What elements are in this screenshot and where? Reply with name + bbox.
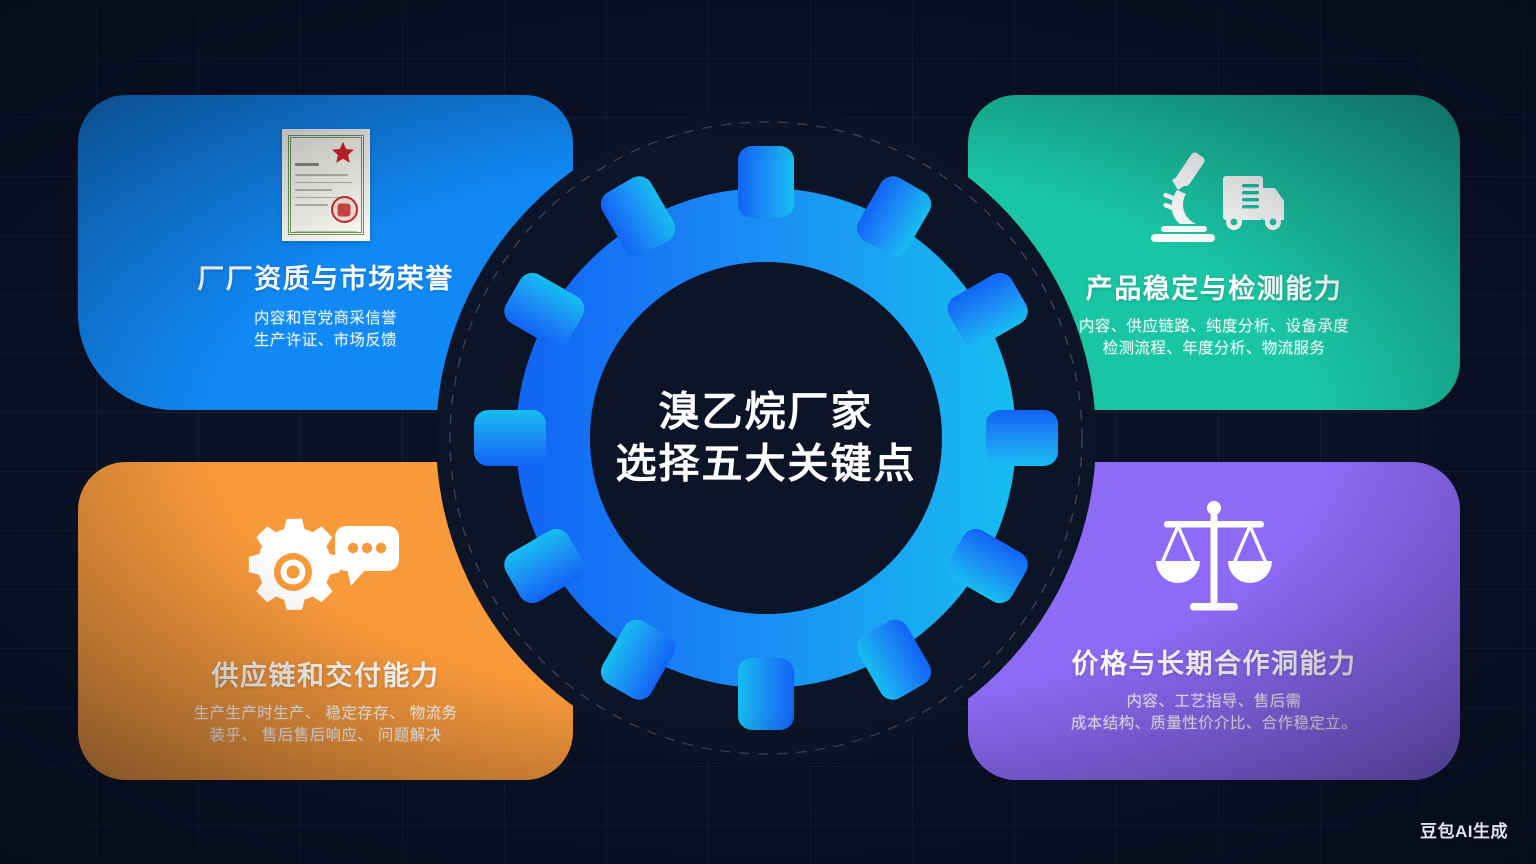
vignette-overlay [0,0,1536,864]
infographic-canvas: 厂厂资质与市场荣誉 内容和官党商采信誉 生产许证、市场反馈 [0,0,1536,864]
watermark-label: 豆包AI生成 [1420,817,1508,842]
